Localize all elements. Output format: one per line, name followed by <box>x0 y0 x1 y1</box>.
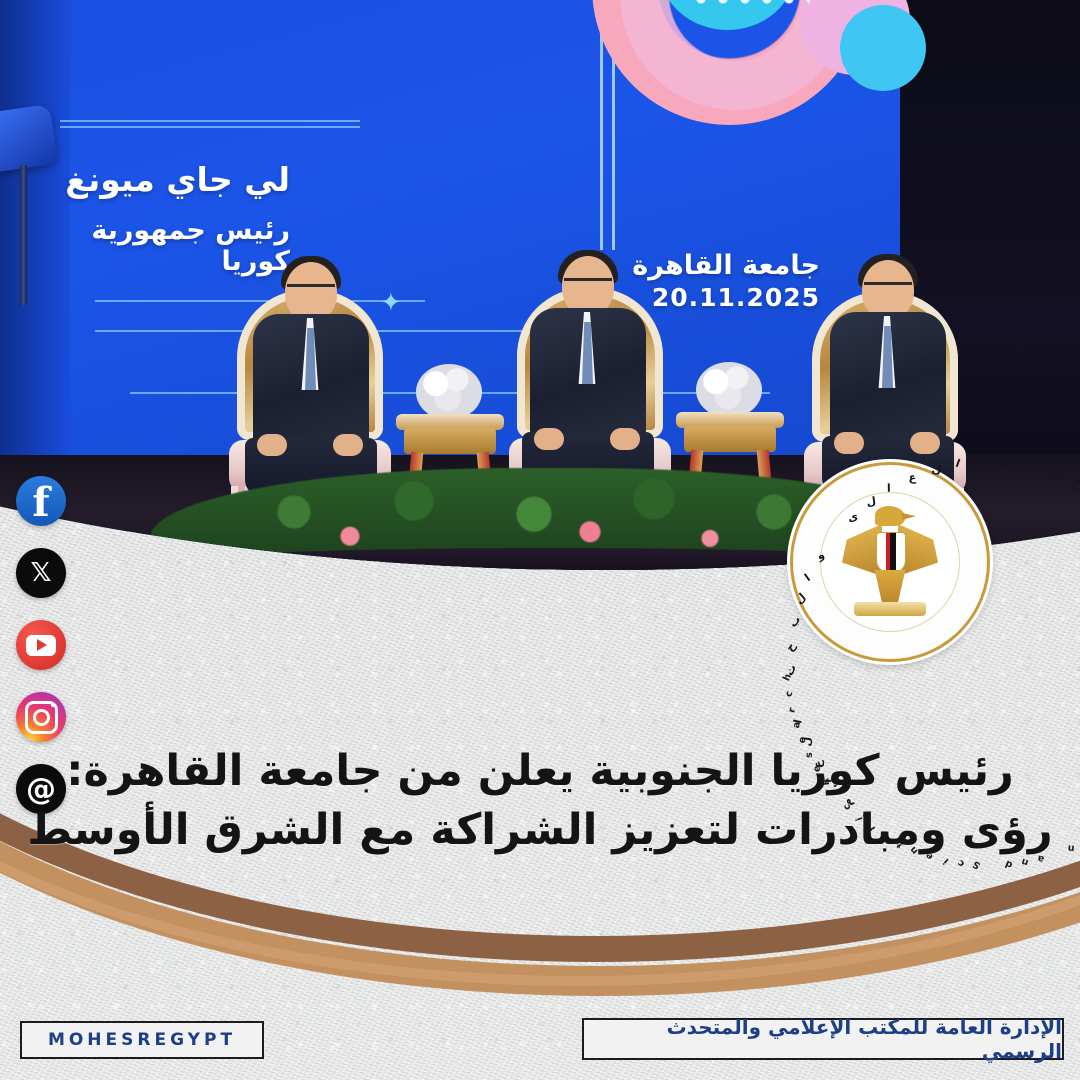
instagram-icon-dot <box>51 703 55 707</box>
stage-lamp-stem <box>20 165 27 305</box>
headline-line-2: رؤى ومبادرات لتعزيز الشراكة مع الشرق الأ… <box>20 801 1060 860</box>
cyan-blob-graphic <box>840 5 926 91</box>
social-link-youtube[interactable] <box>16 620 66 670</box>
stage-lamp <box>0 104 58 172</box>
seal-english-text: Ministry of Higher Education and Scienti… <box>790 462 990 662</box>
social-link-facebook[interactable]: f <box>16 476 66 526</box>
social-link-instagram[interactable] <box>16 692 66 742</box>
screen-rule <box>60 126 360 128</box>
screen-speaker-name: لي جاي ميونغ <box>40 160 290 199</box>
x-icon: 𝕏 <box>31 558 52 588</box>
headline-line-1: رئيس كوريا الجنوبية يعلن من جامعة القاهر… <box>20 742 1060 801</box>
office-badge: الإدارة العامة للمكتب الإعلامي والمتحدث … <box>582 1018 1064 1060</box>
handle-text: MOHESREGYPT <box>48 1030 236 1050</box>
office-text: الإدارة العامة للمكتب الإعلامي والمتحدث … <box>584 1015 1062 1063</box>
dot-pattern-graphic <box>690 0 810 14</box>
headline: رئيس كوريا الجنوبية يعلن من جامعة القاهر… <box>20 742 1060 861</box>
screen-rule <box>60 120 360 122</box>
youtube-icon <box>26 635 56 656</box>
ministry-seal: وزارة التعليم العالى والبحث العلمى Minis… <box>790 462 990 662</box>
facebook-icon: f <box>32 484 49 522</box>
social-link-x[interactable]: 𝕏 <box>16 548 66 598</box>
screen-vertical-rule <box>600 20 603 250</box>
social-media-card: ✦ ✦ لي جاي ميونغ رئيس جمهورية كوريا جامع… <box>0 0 1080 1080</box>
handle-badge: MOHESREGYPT <box>20 1021 264 1059</box>
